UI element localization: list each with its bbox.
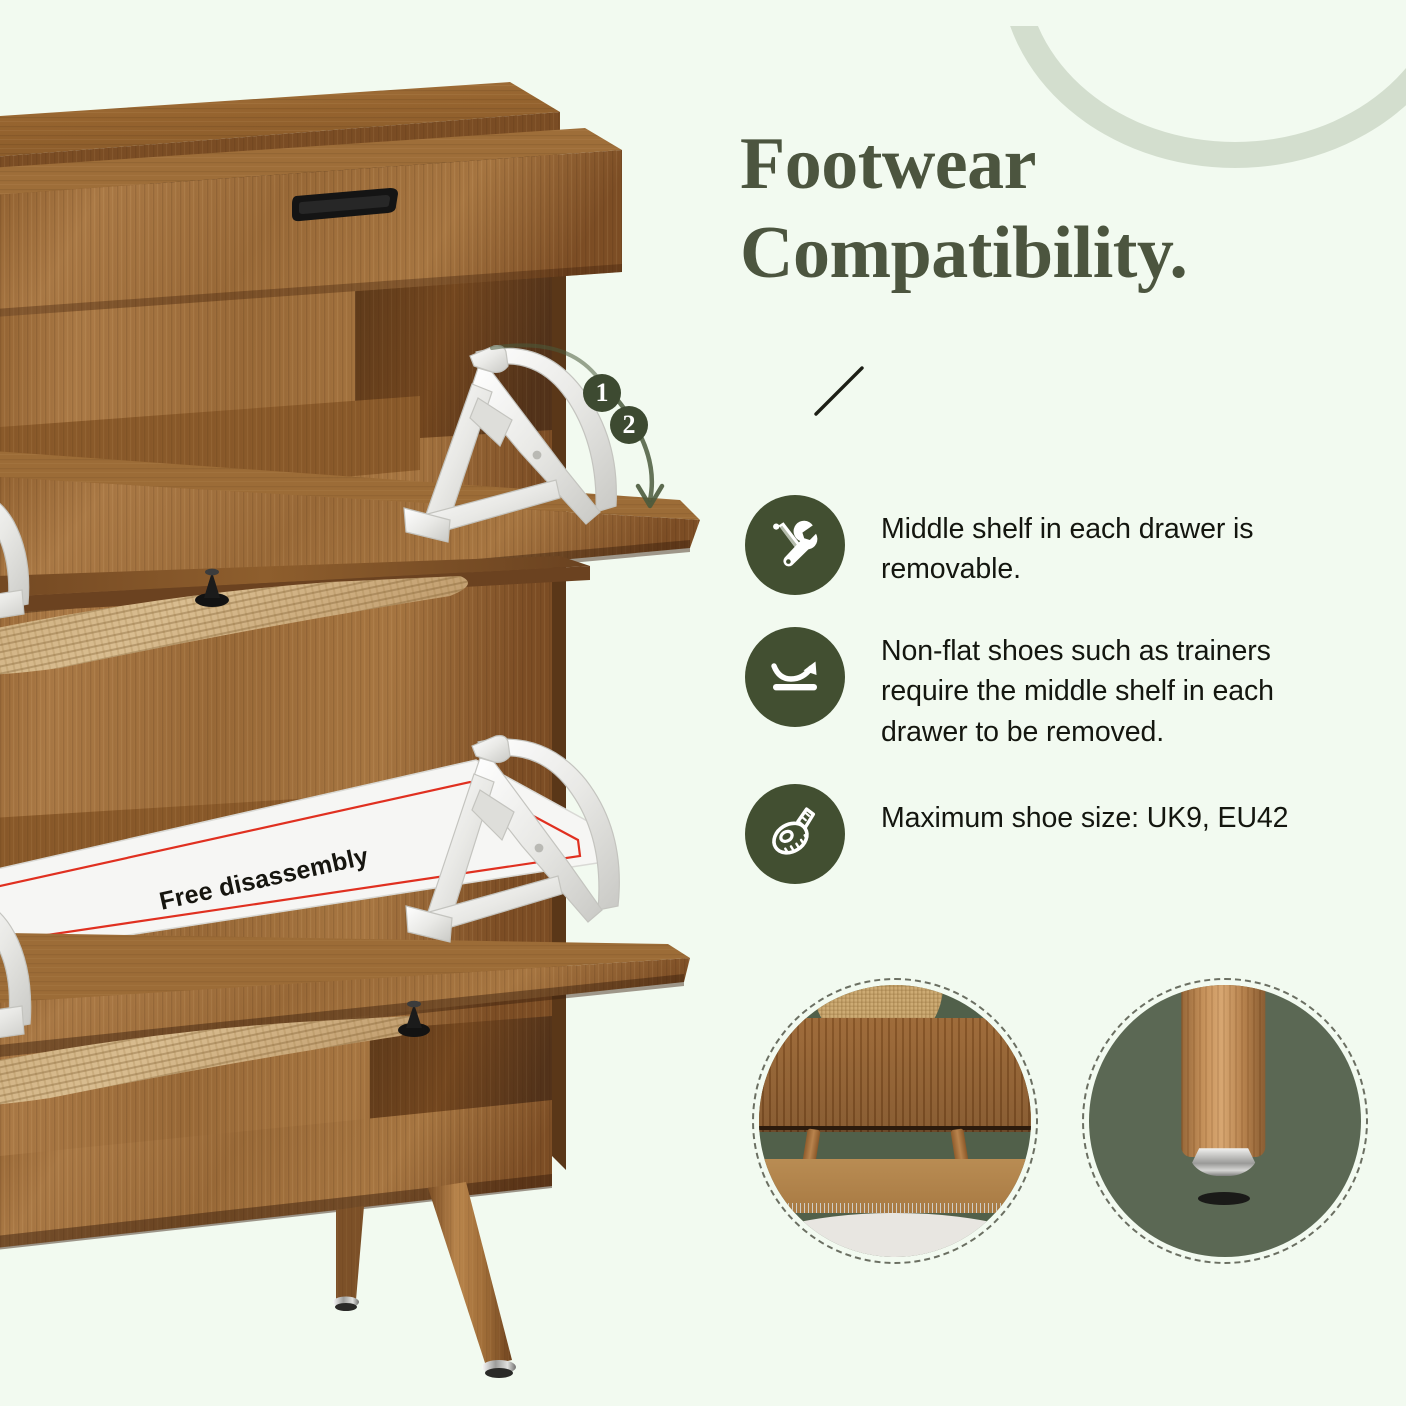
list-item: Maximum shoe size: UK9, EU42 [745,784,1365,884]
page-title-line1: Footwear [740,123,1036,205]
detail-photos [752,978,1376,1278]
cabinet-leg-back [333,1206,364,1311]
leg-foot-inset [1082,978,1368,1264]
flat-shoe-arrow-icon [745,627,845,727]
list-item: Middle shelf in each drawer is removable… [745,495,1365,595]
feature-list: Middle shelf in each drawer is removable… [745,495,1365,916]
list-item-text: Non-flat shoes such as trainers require … [881,627,1351,752]
list-item-text: Maximum shoe size: UK9, EU42 [881,784,1288,838]
list-item-text: Middle shelf in each drawer is removable… [881,495,1351,590]
step-badge-1: 1 [583,374,621,412]
content-column: Footwear Compatibility. [740,120,1380,298]
infographic-page: Free disassembly 1 2 Footwear Compatibil… [0,0,1406,1406]
screwdriver-wrench-icon [745,495,845,595]
step-badge-2: 2 [610,406,648,444]
arc-mask [960,0,1406,26]
cabinet-leg-front [428,1182,516,1378]
page-title-line2: Compatibility. [740,209,1380,298]
list-item: Non-flat shoes such as trainers require … [745,627,1365,752]
page-title: Footwear Compatibility. [740,120,1380,298]
shoe-cabinet-render: Free disassembly 1 2 [0,0,740,1406]
tape-measure-icon [745,784,845,884]
cabinet-base-inset [752,978,1038,1264]
diagonal-slash-icon [812,362,870,420]
